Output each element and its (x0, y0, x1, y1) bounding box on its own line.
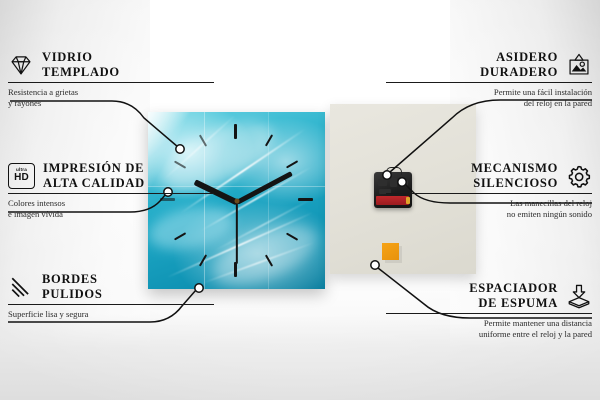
wall-hanger-icon (566, 52, 592, 78)
feature-title: VIDRIO TEMPLADO (42, 50, 120, 79)
feature-header: BORDES PULIDOS (8, 272, 214, 301)
feature-header: ASIDERO DURADERO (386, 50, 592, 79)
diamond-icon (8, 52, 34, 78)
feature-title: ASIDERO DURADERO (480, 50, 558, 79)
foam-spacer-sample (382, 243, 399, 260)
feature-bordes-pulidos: BORDES PULIDOS Superficie lisa y segura (8, 272, 214, 320)
feature-subtitle: Permite mantener una distancia uniforme … (386, 318, 592, 339)
feature-divider (8, 82, 214, 83)
gear-icon (566, 163, 592, 189)
feature-title: BORDES PULIDOS (42, 272, 102, 301)
foam-spacer-icon (566, 283, 592, 309)
feature-subtitle: Las manecillas del reloj no emiten ningú… (386, 198, 592, 219)
clock-center-cap (234, 198, 239, 203)
feature-mecanismo-silencioso: MECANISMO SILENCIOSO Las manecillas del … (386, 161, 592, 220)
feature-header: ESPACIADOR DE ESPUMA (386, 281, 592, 310)
feature-vidrio-templado: VIDRIO TEMPLADO Resistencia a grietas y … (8, 50, 214, 109)
feature-divider (386, 313, 592, 314)
clock-tick (234, 262, 237, 277)
infographic-canvas: VIDRIO TEMPLADO Resistencia a grietas y … (0, 0, 600, 400)
feature-espaciador-de-espuma: ESPACIADOR DE ESPUMA Permite mantener un… (386, 281, 592, 340)
feature-asidero-duradero: ASIDERO DURADERO Permite una fácil insta… (386, 50, 592, 109)
hd-badge-large-text: HD (14, 173, 29, 183)
feature-subtitle: Permite una fácil instalación del reloj … (386, 87, 592, 108)
feature-subtitle: Resistencia a grietas y rayones (8, 87, 214, 108)
polished-edges-icon (8, 274, 34, 300)
feature-header: MECANISMO SILENCIOSO (386, 161, 592, 190)
feature-divider (8, 304, 214, 305)
feature-header: ultra HD IMPRESIÓN DE ALTA CALIDAD (8, 161, 214, 190)
ultra-hd-icon: ultra HD (8, 163, 35, 189)
clock-tick (234, 124, 237, 139)
feature-title: MECANISMO SILENCIOSO (471, 161, 558, 190)
feature-title: ESPACIADOR DE ESPUMA (469, 281, 558, 310)
feature-divider (8, 193, 214, 194)
feature-divider (386, 82, 592, 83)
feature-subtitle: Superficie lisa y segura (8, 309, 214, 320)
feature-title: IMPRESIÓN DE ALTA CALIDAD (43, 161, 145, 190)
feature-subtitle: Colores intensos e imagen vívida (8, 198, 214, 219)
feature-header: VIDRIO TEMPLADO (8, 50, 214, 79)
feature-impresion-alta-calidad: ultra HD IMPRESIÓN DE ALTA CALIDAD Color… (8, 161, 214, 220)
clock-second-hand (236, 202, 238, 264)
clock-tick (298, 198, 313, 201)
feature-divider (386, 193, 592, 194)
